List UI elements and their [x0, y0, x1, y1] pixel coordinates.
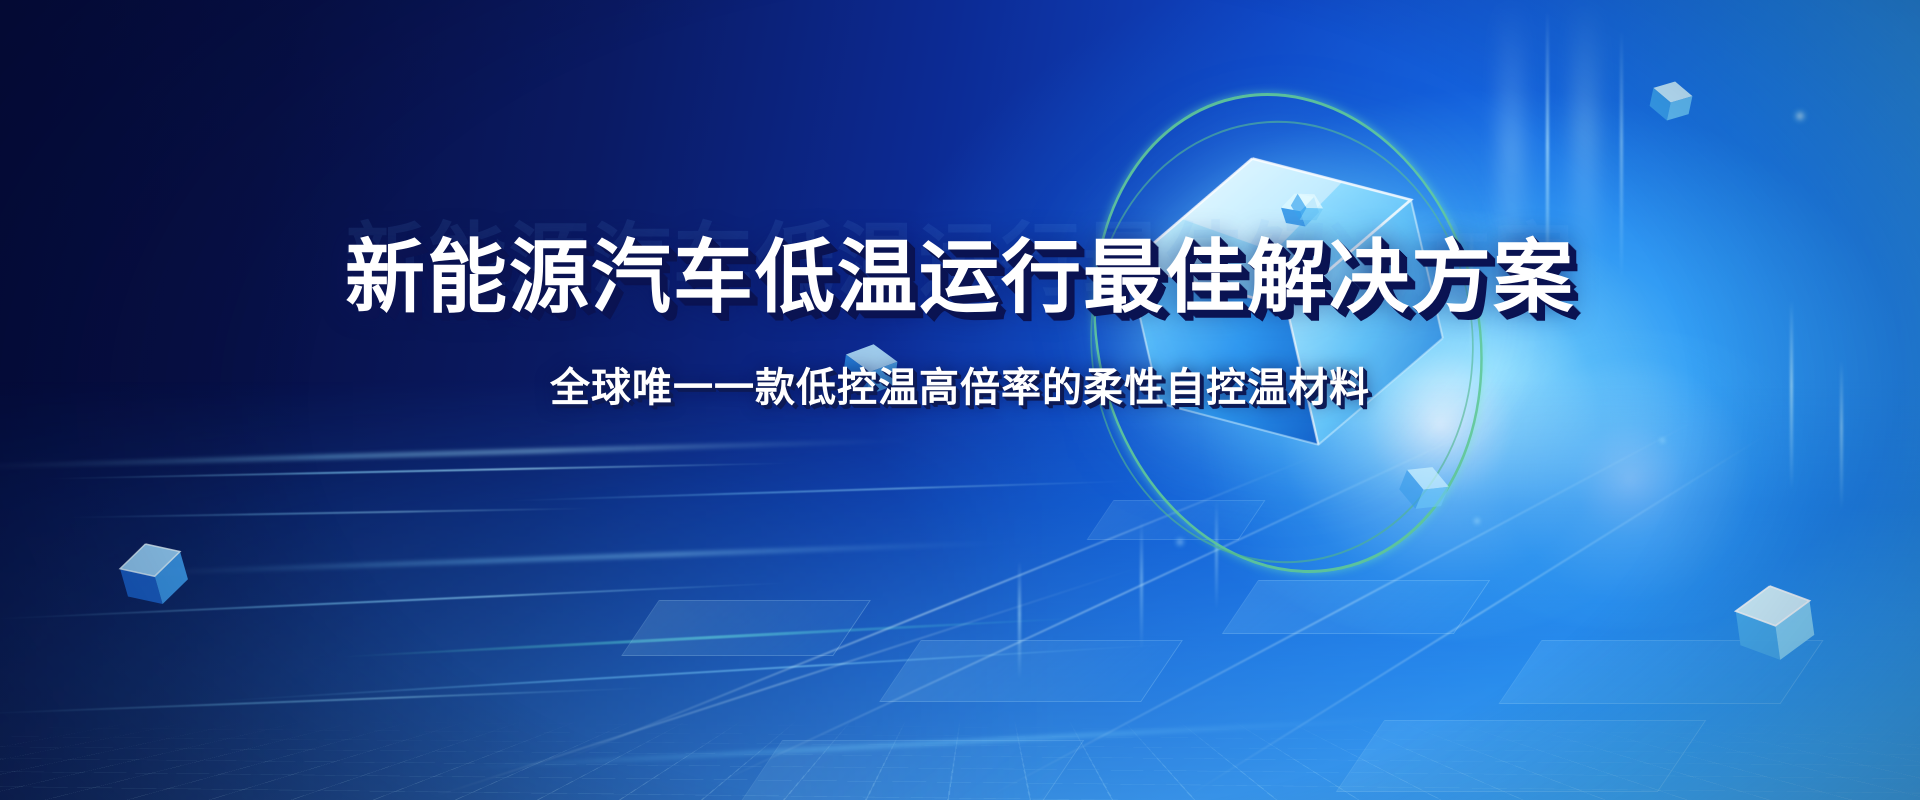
- perspective-grid-icon: [0, 715, 1920, 800]
- floor-plate: [621, 600, 871, 656]
- light-beam-icon: [1018, 560, 1021, 680]
- mini-cube-icon: [1726, 574, 1823, 671]
- hero-banner: 新能源汽车低温运行最佳解决方案 新能源汽车低温运行最佳解决方案 全球唯一一款低控…: [0, 0, 1920, 800]
- light-beam-icon: [1140, 520, 1143, 650]
- floor-plate: [1222, 580, 1490, 634]
- light-streak-icon: [330, 616, 1089, 659]
- light-streak-icon: [40, 462, 800, 480]
- perspective-floor: [0, 380, 1920, 800]
- page-subtitle: 全球唯一一款低控温高倍率的柔性自控温材料: [0, 355, 1920, 413]
- light-streak-icon: [60, 507, 600, 518]
- light-ray-icon: [1179, 429, 1774, 800]
- floor-plate: [879, 640, 1183, 702]
- floor-plate: [1087, 500, 1266, 540]
- light-streak-icon: [0, 438, 920, 469]
- light-ray-icon: [700, 410, 1517, 792]
- floor-plate: [1498, 640, 1823, 704]
- light-streak-icon: [0, 687, 660, 716]
- mini-cube-icon: [109, 529, 198, 618]
- sparkle-icon: [1792, 108, 1808, 124]
- light-streak-icon: [0, 581, 800, 620]
- mini-cube-icon: [1644, 74, 1699, 129]
- floor-plate: [1336, 720, 1707, 792]
- light-streak-icon: [201, 643, 1179, 703]
- banner-text-block: 新能源汽车低温运行最佳解决方案 全球唯一一款低控温高倍率的柔性自控温材料: [0, 236, 1920, 413]
- light-ray-icon: [560, 453, 1321, 762]
- sparkle-icon: [1472, 516, 1482, 526]
- mini-cube-icon: [1390, 454, 1458, 522]
- light-ray-icon: [980, 415, 1705, 800]
- light-streak-icon: [500, 480, 1140, 502]
- floor-plate: [738, 740, 1085, 800]
- sparkle-icon: [1174, 536, 1186, 548]
- sparkle-icon: [1658, 436, 1667, 445]
- light-streak-icon: [421, 716, 1420, 772]
- light-beam-icon: [1215, 500, 1218, 610]
- page-title: 新能源汽车低温运行最佳解决方案: [0, 236, 1920, 321]
- mini-cube-icon: [1275, 185, 1325, 235]
- mini-cube-icon: [1284, 184, 1330, 230]
- light-ray-icon: [420, 565, 1143, 800]
- light-streak-icon: [120, 540, 1020, 575]
